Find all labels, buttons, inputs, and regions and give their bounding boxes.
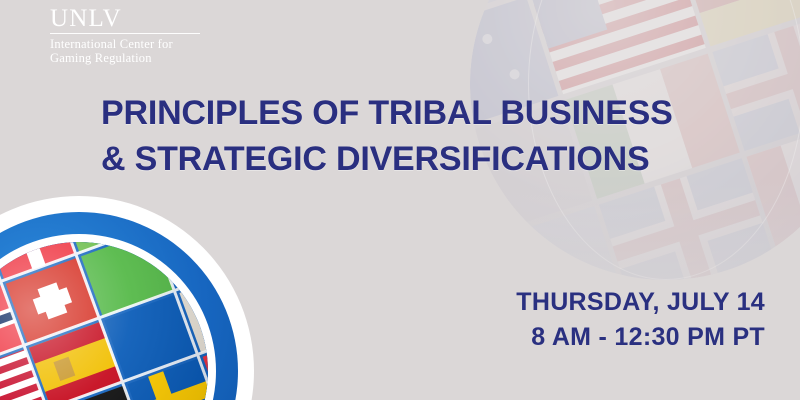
event-datetime: THURSDAY, JULY 14 8 AM - 12:30 PM PT xyxy=(516,285,765,355)
unlv-wordmark: UNLV xyxy=(50,6,200,31)
logo-divider xyxy=(50,33,200,34)
event-time: 8 AM - 12:30 PM PT xyxy=(516,320,765,355)
logo-subtitle-line2: Gaming Regulation xyxy=(50,51,200,65)
logo-subtitle-line1: International Center for xyxy=(50,37,200,51)
headline-line-1: PRINCIPLES OF TRIBAL BUSINESS xyxy=(101,94,673,132)
flag-globe-bright xyxy=(0,196,254,400)
poster-headline: PRINCIPLES OF TRIBAL BUSINESS & STRATEGI… xyxy=(101,90,673,182)
unlv-logo: UNLV International Center for Gaming Reg… xyxy=(50,6,200,65)
event-date: THURSDAY, JULY 14 xyxy=(516,285,765,320)
event-poster: UNLV International Center for Gaming Reg… xyxy=(0,0,800,400)
headline-line-2: & STRATEGIC DIVERSIFICATIONS xyxy=(101,136,673,182)
